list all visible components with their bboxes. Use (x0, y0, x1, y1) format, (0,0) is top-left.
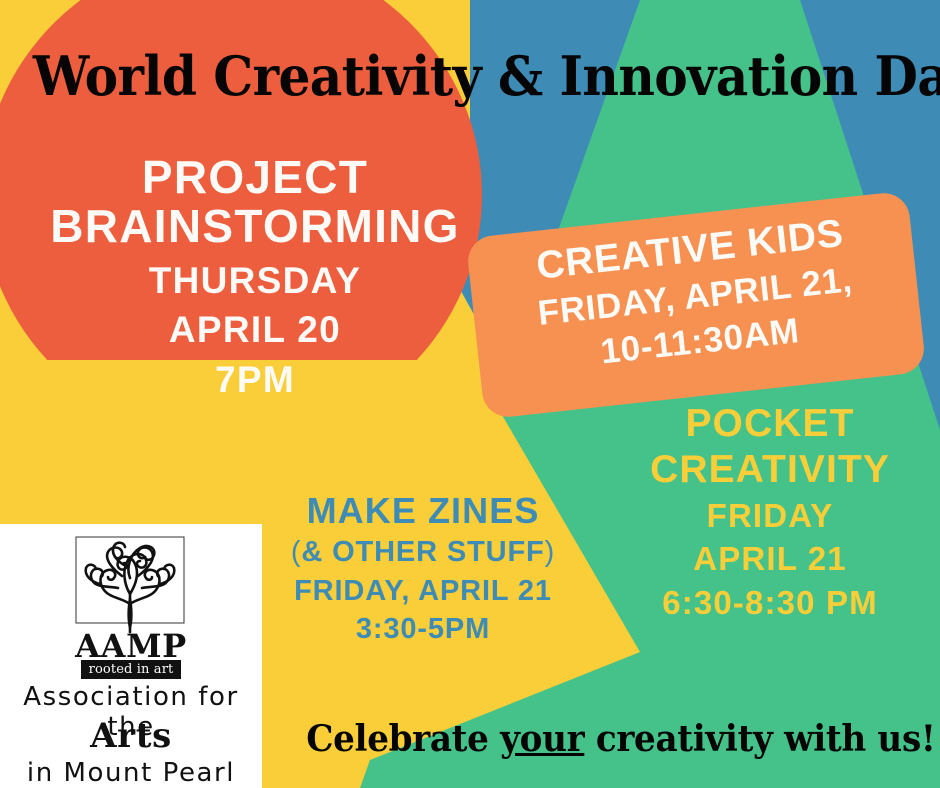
swirly-tree-icon (60, 532, 200, 640)
logo-org-line2: Arts (0, 716, 262, 756)
tagline-emphasis: your (500, 718, 584, 760)
tagline-after: creativity with us! (584, 718, 935, 760)
tagline: Celebrate your creativity with us! (306, 718, 924, 760)
subtitle-open-paren: ( (291, 536, 302, 568)
event-name-line2: BRAINSTORMING (30, 203, 480, 251)
event-day: THURSDAY (30, 262, 480, 300)
tagline-before: Celebrate (306, 718, 500, 760)
event-pocket-creativity: POCKET CREATIVITY FRIDAY APRIL 21 6:30-8… (620, 404, 920, 620)
logo-org-line3: in Mount Pearl (0, 758, 262, 788)
event-make-zines: MAKE ZINES (& OTHER STUFF) FRIDAY, APRIL… (258, 492, 588, 644)
event-time: 7PM (30, 361, 480, 399)
logo-tagline: rooted in art (81, 660, 181, 679)
event-date: FRIDAY, APRIL 21 (258, 576, 588, 606)
event-subtitle: (& OTHER STUFF) (258, 537, 588, 567)
event-name-line2: CREATIVITY (620, 450, 920, 491)
event-name-line1: PROJECT (30, 154, 480, 202)
event-time: 3:30-5PM (258, 614, 588, 644)
event-day: FRIDAY (620, 499, 920, 533)
subtitle-close-paren: ) (545, 536, 556, 568)
event-name-line1: POCKET (620, 404, 920, 445)
page-title: World Creativity & Innovation Day (33, 44, 907, 108)
event-name: MAKE ZINES (258, 492, 588, 529)
organization-logo: AAMP rooted in art Association for the A… (0, 524, 262, 788)
poster: World Creativity & Innovation Day PROJEC… (0, 0, 940, 788)
event-date: APRIL 20 (30, 311, 480, 349)
event-date: APRIL 21 (620, 542, 920, 576)
event-project-brainstorming: PROJECT BRAINSTORMING THURSDAY APRIL 20 … (30, 154, 480, 399)
subtitle-text: & OTHER STUFF (301, 536, 544, 568)
event-time: 6:30-8:30 PM (620, 586, 920, 620)
logo-acronym: AAMP (0, 630, 262, 662)
